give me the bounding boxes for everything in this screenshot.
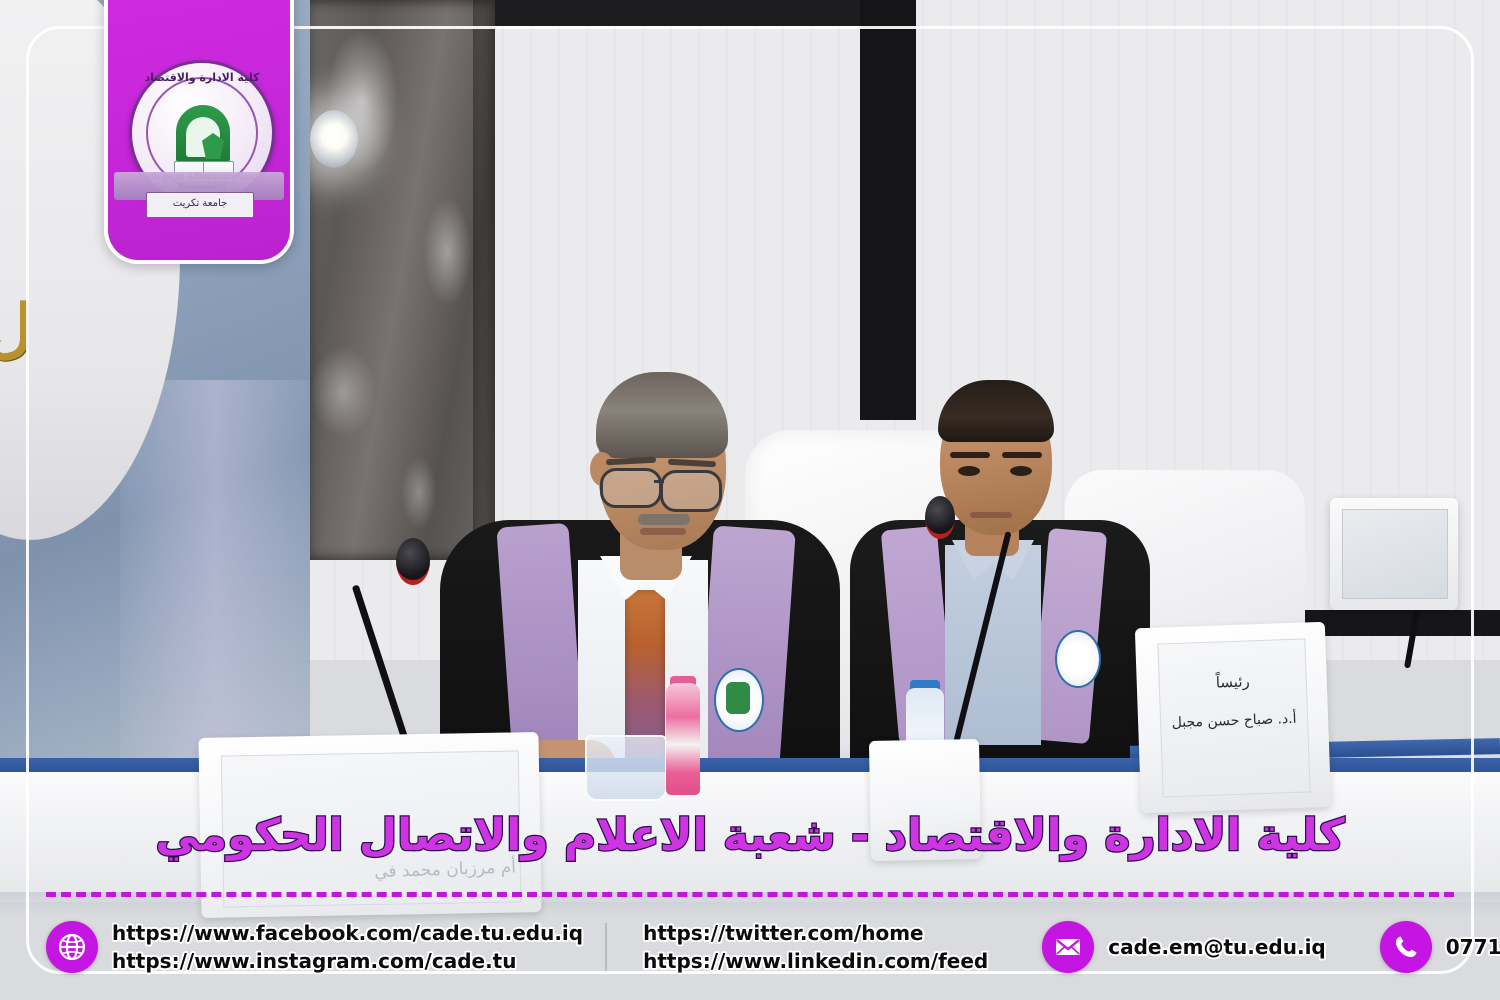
seal-arch-emblem	[176, 105, 230, 163]
desk-monitor-screen	[1342, 509, 1448, 599]
person-one-lapel-badge	[714, 668, 764, 732]
person-two-mouth	[970, 512, 1012, 518]
email-address[interactable]: cade.em@tu.edu.iq	[1108, 935, 1326, 959]
seal-ribbon-label: جامعة تكريت	[146, 192, 254, 218]
poster-root: ال	[0, 0, 1500, 1000]
mail-icon	[1042, 921, 1094, 973]
person-two-eye-left	[958, 466, 980, 476]
contact-group-phone: 07718055128	[1380, 908, 1500, 986]
seal-knot-motif	[202, 133, 224, 159]
contact-group-social: https://twitter.com/home https://www.lin…	[629, 908, 988, 986]
seal-arch-inner	[186, 117, 220, 157]
person-one-eyeglass-left	[600, 468, 662, 508]
instagram-link[interactable]: https://www.instagram.com/cade.tu	[112, 949, 583, 973]
social-links: https://twitter.com/home https://www.lin…	[643, 921, 988, 973]
contact-spacer-three	[1352, 923, 1354, 971]
website-links: https://www.facebook.com/cade.tu.edu.iq …	[112, 921, 583, 973]
person-two-eye-right	[1010, 466, 1032, 476]
email-lines: cade.em@tu.edu.iq	[1108, 935, 1326, 959]
person-two-eyebrow-right	[1002, 452, 1042, 458]
page-title: كلية الادارة والاقتصاد - شعبة الاعلام وا…	[0, 808, 1500, 863]
globe-icon	[46, 921, 98, 973]
contact-separator-one	[605, 923, 607, 971]
drinking-glass	[585, 735, 667, 801]
contact-group-website: https://www.facebook.com/cade.tu.edu.iq …	[46, 908, 583, 986]
twitter-link[interactable]: https://twitter.com/home	[643, 921, 988, 945]
facebook-link[interactable]: https://www.facebook.com/cade.tu.edu.iq	[112, 921, 583, 945]
linkedin-link[interactable]: https://www.linkedin.com/feed	[643, 949, 988, 973]
person-one-mouth	[640, 528, 686, 535]
college-logo-badge: كلية الادارة والاقتصاد College of Admini…	[104, 0, 294, 264]
microphone-head-center	[925, 496, 955, 539]
nameplate-role: رئيساً	[1162, 671, 1303, 694]
pink-bottle	[666, 683, 700, 795]
contact-spacer-two	[1014, 923, 1016, 971]
wall-dark-strip	[860, 0, 916, 420]
person-two-lapel-badge	[1055, 630, 1101, 688]
nameplate-holder: رئيساً أ.د. صباح حسن مجبل	[1135, 622, 1331, 814]
phone-number[interactable]: 07718055128	[1446, 935, 1500, 959]
dashed-divider	[46, 892, 1454, 897]
nameplate-text: رئيساً أ.د. صباح حسن مجبل	[1162, 671, 1304, 732]
ceiling-spotlight	[310, 110, 358, 168]
person-one-eyeglass-right	[660, 470, 722, 512]
person-one-moustache	[638, 514, 690, 525]
person-one-eyeglass-bridge	[654, 480, 664, 483]
phone-icon	[1380, 921, 1432, 973]
phone-lines: 07718055128	[1446, 935, 1500, 959]
contact-bar: https://www.facebook.com/cade.tu.edu.iq …	[46, 908, 1454, 986]
microphone-head-left	[396, 538, 430, 585]
contact-group-email: cade.em@tu.edu.iq	[1042, 908, 1326, 986]
person-two-eyebrow-left	[950, 452, 990, 458]
desk-monitor	[1330, 498, 1458, 610]
gold-calligraphy: ال	[0, 300, 32, 480]
seal-arabic-text: كلية الادارة والاقتصاد	[132, 71, 272, 84]
